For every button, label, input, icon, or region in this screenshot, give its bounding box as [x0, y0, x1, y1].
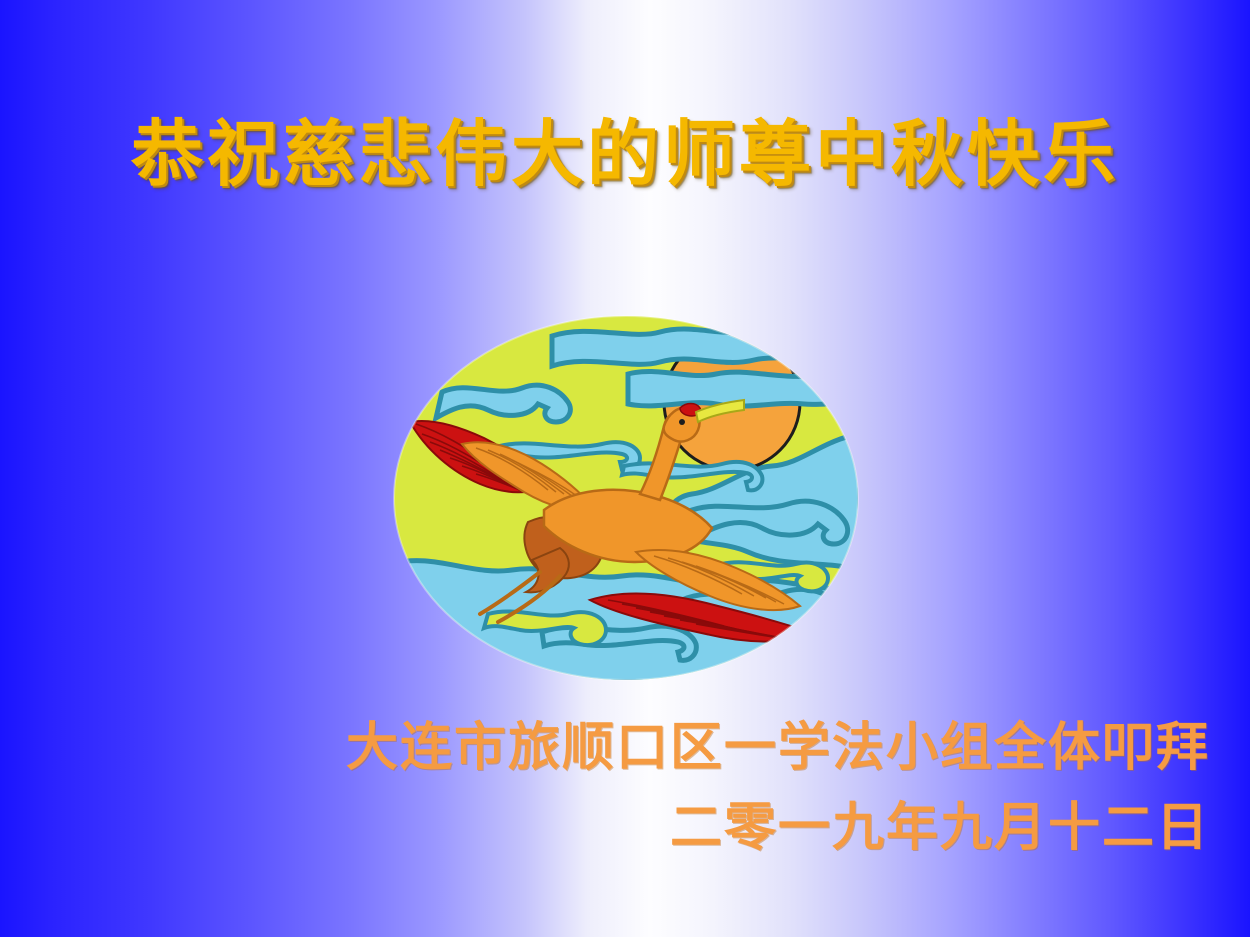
- greeting-slide: 恭祝慈悲伟大的师尊中秋快乐: [0, 0, 1250, 937]
- crane-artwork-svg: [392, 314, 860, 682]
- cloud-band-top: [552, 328, 860, 366]
- page-title: 恭祝慈悲伟大的师尊中秋快乐: [0, 112, 1250, 196]
- flying-crane-illustration: [392, 314, 860, 682]
- date-line: 二零一九年九月十二日: [0, 798, 1210, 858]
- crane-eye: [679, 419, 685, 425]
- signature-line: 大连市旅顺口区一学法小组全体叩拜: [0, 718, 1210, 778]
